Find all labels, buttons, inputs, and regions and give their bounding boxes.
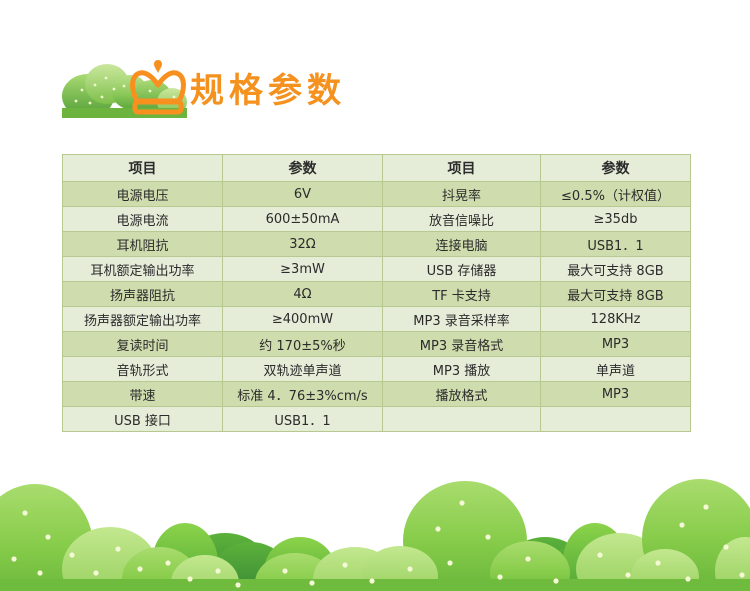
table-cell: 连接电脑 <box>383 232 541 257</box>
column-header-item-2: 项目 <box>383 155 541 182</box>
footer-bush-decoration <box>0 451 750 591</box>
table-row: 耳机阻抗32Ω连接电脑USB1．1 <box>63 232 691 257</box>
table-row: 电源电压6V抖晃率≤0.5%（计权值） <box>63 182 691 207</box>
table-cell <box>383 407 541 432</box>
table-cell: 6V <box>223 182 383 207</box>
table-cell: 双轨迹单声道 <box>223 357 383 382</box>
table-cell: ≥3mW <box>223 257 383 282</box>
table-cell: 放音信噪比 <box>383 207 541 232</box>
table-cell: MP3 播放 <box>383 357 541 382</box>
table-row: USB 接口USB1．1 <box>63 407 691 432</box>
table-cell: 电源电流 <box>63 207 223 232</box>
table-body: 电源电压6V抖晃率≤0.5%（计权值）电源电流600±50mA放音信噪比≥35d… <box>63 182 691 432</box>
column-header-item-1: 项目 <box>63 155 223 182</box>
table-cell: 电源电压 <box>63 182 223 207</box>
table-row: 音轨形式双轨迹单声道MP3 播放单声道 <box>63 357 691 382</box>
table-cell: 单声道 <box>541 357 691 382</box>
table-row: 耳机额定输出功率≥3mWUSB 存储器最大可支持 8GB <box>63 257 691 282</box>
table-row: 带速标准 4．76±3%cm/s播放格式MP3 <box>63 382 691 407</box>
page-title: 规格参数 <box>190 69 346 113</box>
crown-icon <box>127 54 189 120</box>
table-cell: 带速 <box>63 382 223 407</box>
table-cell: ≥35db <box>541 207 691 232</box>
table-row: 电源电流600±50mA放音信噪比≥35db <box>63 207 691 232</box>
table-row: 复读时间约 170±5%秒MP3 录音格式MP3 <box>63 332 691 357</box>
table-row: 扬声器额定输出功率≥400mWMP3 录音采样率128KHz <box>63 307 691 332</box>
table-header-row: 项目 参数 项目 参数 <box>63 155 691 182</box>
table-cell: 复读时间 <box>63 332 223 357</box>
table-row: 扬声器阻抗4ΩTF 卡支持最大可支持 8GB <box>63 282 691 307</box>
table-cell: TF 卡支持 <box>383 282 541 307</box>
table-cell: 最大可支持 8GB <box>541 282 691 307</box>
column-header-param-1: 参数 <box>223 155 383 182</box>
table-cell: 耳机阻抗 <box>63 232 223 257</box>
table-cell: ≥400mW <box>223 307 383 332</box>
table-cell: MP3 <box>541 332 691 357</box>
table-cell: 音轨形式 <box>63 357 223 382</box>
table-cell: 标准 4．76±3%cm/s <box>223 382 383 407</box>
spec-table-container: 项目 参数 项目 参数 电源电压6V抖晃率≤0.5%（计权值）电源电流600±5… <box>62 154 690 432</box>
table-cell: USB1．1 <box>223 407 383 432</box>
table-cell: 128KHz <box>541 307 691 332</box>
column-header-param-2: 参数 <box>541 155 691 182</box>
table-cell: MP3 <box>541 382 691 407</box>
table-cell: MP3 录音格式 <box>383 332 541 357</box>
table-cell: 扬声器阻抗 <box>63 282 223 307</box>
table-cell: ≤0.5%（计权值） <box>541 182 691 207</box>
specifications-table: 项目 参数 项目 参数 电源电压6V抖晃率≤0.5%（计权值）电源电流600±5… <box>62 154 691 432</box>
table-cell: 约 170±5%秒 <box>223 332 383 357</box>
table-cell: USB 存储器 <box>383 257 541 282</box>
table-cell: 最大可支持 8GB <box>541 257 691 282</box>
table-cell: USB1．1 <box>541 232 691 257</box>
table-cell: 扬声器额定输出功率 <box>63 307 223 332</box>
table-cell: 耳机额定输出功率 <box>63 257 223 282</box>
table-cell: USB 接口 <box>63 407 223 432</box>
table-cell: 抖晃率 <box>383 182 541 207</box>
table-cell: 播放格式 <box>383 382 541 407</box>
table-cell: MP3 录音采样率 <box>383 307 541 332</box>
bush-hills-icon <box>0 451 750 591</box>
table-cell: 4Ω <box>223 282 383 307</box>
page-header: 规格参数 <box>0 0 750 145</box>
table-cell: 32Ω <box>223 232 383 257</box>
table-cell: 600±50mA <box>223 207 383 232</box>
table-cell <box>541 407 691 432</box>
